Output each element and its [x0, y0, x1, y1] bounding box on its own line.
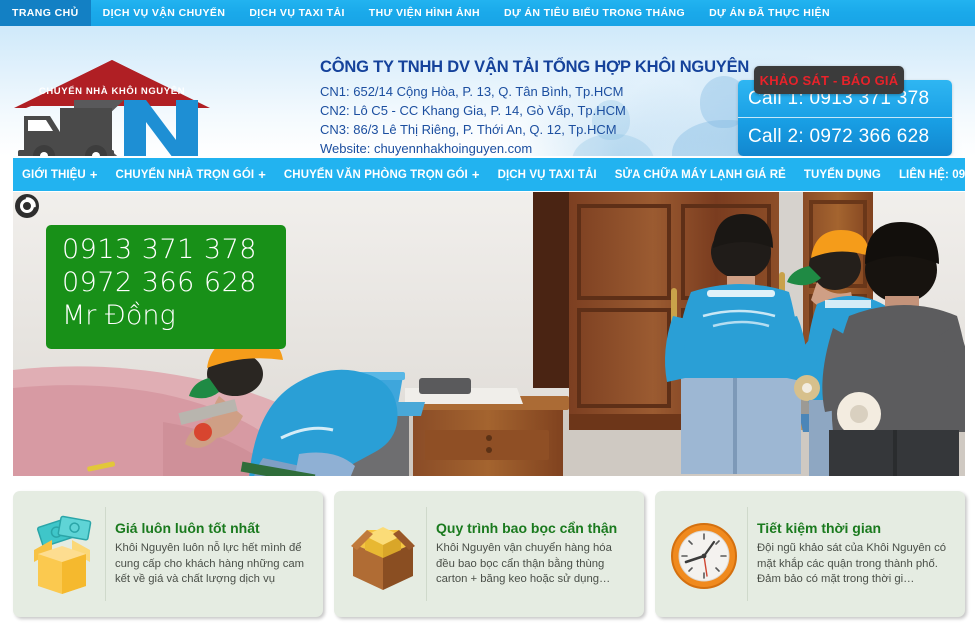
card-body: Tiết kiệm thời gian Đội ngũ khảo sát của… — [757, 520, 955, 588]
money-box-icon — [19, 514, 105, 594]
card-divider — [426, 507, 427, 601]
nav-item-sua-chua-may-lanh[interactable]: SỬA CHỮA MÁY LẠNH GIÁ RẺ — [606, 158, 795, 191]
nav-item-chuyen-van-phong-tron-goi[interactable]: CHUYỂN VĂN PHÒNG TRỌN GÓI + — [275, 158, 489, 191]
nav-item-label: DỊCH VỤ TAXI TẢI — [498, 169, 597, 181]
nav-item-tuyen-dung[interactable]: TUYỂN DỤNG — [795, 158, 890, 191]
nav-item-label: GIỚI THIỆU — [22, 169, 86, 181]
svg-text:CHUYỂN NHÀ KHÔI NGUYÊN: CHUYỂN NHÀ KHÔI NGUYÊN — [39, 85, 185, 97]
company-branch-1: CN1: 652/14 Cộng Hòa, P. 13, Q. Tân Bình… — [320, 82, 740, 101]
clock-icon — [661, 514, 747, 594]
feature-cards: Giá luôn luôn tốt nhất Khôi Nguyên luôn … — [13, 491, 965, 617]
site-logo[interactable]: CHUYỂN NHÀ KHÔI NGUYÊN — [12, 56, 212, 156]
top-navigation-bar: TRANG CHỦ DỊCH VỤ VẬN CHUYỂN DỊCH VỤ TAX… — [0, 0, 975, 26]
expand-plus-icon: + — [258, 167, 266, 182]
page-root: TRANG CHỦ DỊCH VỤ VẬN CHUYỂN DỊCH VỤ TAX… — [0, 0, 975, 631]
expand-plus-icon: + — [90, 167, 98, 182]
survey-quote-button[interactable]: KHẢO SÁT - BÁO GIÁ — [754, 66, 904, 94]
card-title: Quy trình bao bọc cẩn thận — [436, 520, 630, 537]
expand-plus-icon: + — [472, 167, 480, 182]
nav-item-label: SỬA CHỮA MÁY LẠNH GIÁ RẺ — [615, 169, 786, 181]
card-body: Giá luôn luôn tốt nhất Khôi Nguyên luôn … — [115, 520, 313, 588]
card-text: Đội ngũ khảo sát của Khôi Nguyên có mặt … — [757, 541, 951, 588]
nav-item-label: CHUYỂN VĂN PHÒNG TRỌN GÓI — [284, 169, 468, 181]
hero-phone-1[interactable]: 0913 371 378 — [62, 233, 286, 266]
card-title: Giá luôn luôn tốt nhất — [115, 520, 309, 537]
topbar-item-du-an-da-thuc-hien[interactable]: DỰ ÁN ĐÃ THỰC HIỆN — [697, 0, 842, 26]
company-info: CÔNG TY TNHH DV VẬN TẢI TỔNG HỢP KHÔI NG… — [320, 58, 740, 156]
topbar-item-label: DỰ ÁN TIÊU BIỂU TRONG THÁNG — [504, 7, 685, 19]
nav-item-dich-vu-taxi-tai[interactable]: DỊCH VỤ TAXI TẢI — [489, 158, 606, 191]
topbar-item-label: TRANG CHỦ — [12, 7, 79, 19]
topbar-item-du-an-tieu-bieu[interactable]: DỰ ÁN TIÊU BIỂU TRONG THÁNG — [492, 0, 697, 26]
card-text: Khôi Nguyên vận chuyển hàng hóa đều bao … — [436, 541, 630, 588]
call-2[interactable]: Call 2: 0972 366 628 — [738, 118, 952, 156]
loading-spinner-icon[interactable] — [13, 192, 41, 220]
nav-item-label: TUYỂN DỤNG — [804, 169, 881, 181]
card-text: Khôi Nguyên luôn nỗ lực hết mình để cung… — [115, 541, 309, 588]
nav-item-chuyen-nha-tron-goi[interactable]: CHUYỂN NHÀ TRỌN GÓI + — [107, 158, 275, 191]
topbar-item-dich-vu-taxi-tai[interactable]: DỊCH VỤ TAXI TẢI — [237, 0, 356, 26]
hero-phone-2[interactable]: 0972 366 628 — [62, 266, 286, 299]
topbar-item-label: DỰ ÁN ĐÃ THỰC HIỆN — [709, 7, 830, 19]
company-website[interactable]: Website: chuyennhakhoinguyen.com — [320, 139, 740, 156]
nav-item-label: LIÊN HỆ: 0913 371 378 — [899, 169, 975, 181]
topbar-item-thu-vien-hinh-anh[interactable]: THƯ VIỆN HÌNH ẢNH — [357, 0, 492, 26]
carton-box-icon — [340, 514, 426, 594]
hero-contact-name: Mr Đồng — [62, 299, 286, 332]
topbar-item-trang-chu[interactable]: TRANG CHỦ — [0, 0, 91, 26]
topbar-item-label: THƯ VIỆN HÌNH ẢNH — [369, 7, 480, 19]
card-divider — [105, 507, 106, 601]
nav-item-lien-he[interactable]: LIÊN HỆ: 0913 371 378 — [890, 158, 975, 191]
card-title: Tiết kiệm thời gian — [757, 520, 951, 537]
card-divider — [747, 507, 748, 601]
feature-card-gia-tot-nhat[interactable]: Giá luôn luôn tốt nhất Khôi Nguyên luôn … — [13, 491, 323, 617]
topbar-item-label: DỊCH VỤ TAXI TẢI — [249, 7, 344, 19]
company-branch-2: CN2: Lô C5 - CC Khang Gia, P. 14, Gò Vấp… — [320, 101, 740, 120]
nav-item-gioi-thieu[interactable]: GIỚI THIỆU + — [13, 158, 107, 191]
hero-banner[interactable]: 0913 371 378 0972 366 628 Mr Đồng — [13, 192, 965, 476]
card-body: Quy trình bao bọc cẩn thận Khôi Nguyên v… — [436, 520, 634, 588]
hero-phone-overlay: 0913 371 378 0972 366 628 Mr Đồng — [46, 225, 286, 349]
company-name: CÔNG TY TNHH DV VẬN TẢI TỔNG HỢP KHÔI NG… — [320, 58, 740, 77]
topbar-item-label: DỊCH VỤ VẬN CHUYỂN — [103, 7, 226, 19]
topbar-item-dich-vu-van-chuyen[interactable]: DỊCH VỤ VẬN CHUYỂN — [91, 0, 238, 26]
feature-card-tiet-kiem-thoi-gian[interactable]: Tiết kiệm thời gian Đội ngũ khảo sát của… — [655, 491, 965, 617]
company-branch-3: CN3: 86/3 Lê Thị Riêng, P. Thới An, Q. 1… — [320, 120, 740, 139]
main-navigation-bar: GIỚI THIỆU + CHUYỂN NHÀ TRỌN GÓI + CHUYỂ… — [13, 158, 965, 191]
feature-card-bao-boc-can-than[interactable]: Quy trình bao bọc cẩn thận Khôi Nguyên v… — [334, 491, 644, 617]
nav-item-label: CHUYỂN NHÀ TRỌN GÓI — [116, 169, 255, 181]
site-header: CHUYỂN NHÀ KHÔI NGUYÊN CÔNG TY TNHH DV V… — [0, 26, 975, 156]
